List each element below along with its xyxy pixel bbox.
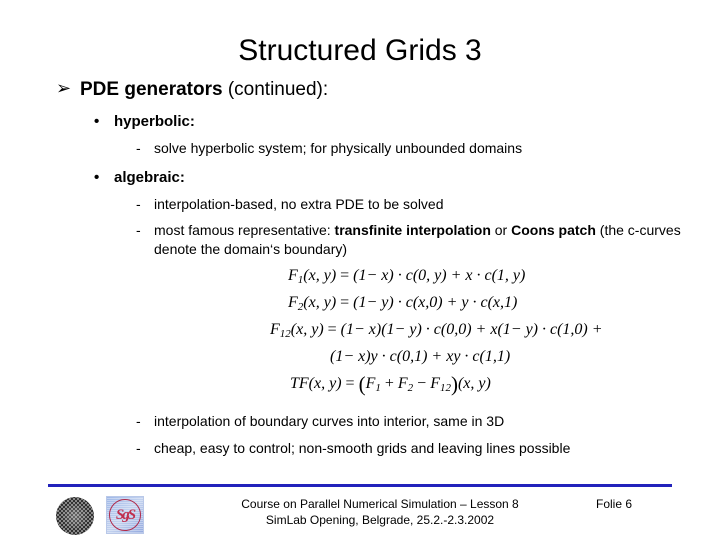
bullet-level3-interpolation-boundary-text: interpolation of boundary curves into in…	[154, 413, 504, 429]
bullet-level3-cheap-easy-text: cheap, easy to control; non-smooth grids…	[154, 440, 570, 456]
sgs-ring-icon: SgS	[109, 499, 141, 531]
formula-f12-subscript: 12	[280, 328, 291, 340]
formula-tf-inner-f2: F	[398, 375, 408, 392]
dash-bullet-icon: -	[136, 139, 141, 158]
formula-f12-eq: =	[324, 321, 341, 338]
bullet-level2-algebraic-label: algebraic:	[114, 169, 185, 186]
bullet-level3-hyperbolic-item: - solve hyperbolic system; for physicall…	[136, 139, 720, 158]
formula-f2-eq: =	[336, 294, 353, 311]
bullet-level3-famous-representative: - most famous representative: transfinit…	[136, 221, 720, 259]
famous-lead-text: most famous representative:	[154, 222, 335, 238]
footer-line-1: Course on Parallel Numerical Simulation …	[180, 496, 580, 512]
formula-tf-close-paren: )	[451, 372, 458, 396]
dash-bullet-icon: -	[136, 439, 141, 458]
formula-tf-inner-f12: F	[430, 375, 440, 392]
formula-tf-lhs-name: TF	[290, 375, 309, 392]
arrow-bullet-icon: ➢	[56, 77, 71, 101]
bullet-level2-hyperbolic-label: hyperbolic:	[114, 113, 195, 130]
formula-tf-args: (x, y)	[309, 375, 342, 392]
formula-f12-lhs-name: F	[270, 321, 280, 338]
bullet-level3-cheap-easy: - cheap, easy to control; non-smooth gri…	[136, 439, 659, 458]
slide-title: Structured Grids 3	[0, 34, 720, 68]
bullet-level3-hyperbolic-text: solve hyperbolic system; for physically …	[154, 140, 522, 156]
sgs-emblem-logo-icon: SgS	[106, 496, 144, 534]
round-bullet-icon: •	[94, 167, 99, 188]
formula-tf-open-paren: (	[359, 372, 366, 396]
formula-tf-minus: −	[413, 375, 430, 392]
formula-f1-args: (x, y)	[303, 267, 336, 284]
formula-f1-eq: =	[336, 267, 353, 284]
footer-line-2: SimLab Opening, Belgrade, 25.2.-2.3.2002	[180, 512, 580, 528]
formula-f2-rhs: (1− y) · c(x,0) + y · c(x,1)	[353, 294, 517, 311]
bullet-level3-interpolation-based: - interpolation-based, no extra PDE to b…	[136, 195, 720, 214]
formula-f2-args: (x, y)	[303, 294, 336, 311]
formula-f12: F12(x, y) = (1− x)(1− y) · c(0,0) + x(1−…	[0, 316, 720, 343]
formula-tf-plus: +	[381, 375, 398, 392]
famous-bold-coons-patch: Coons patch	[511, 222, 596, 238]
formula-block: F1(x, y) = (1− x) · c(0, y) + x · c(1, y…	[0, 262, 720, 397]
presentation-slide: Structured Grids 3 ➢ PDE generators (con…	[0, 0, 720, 540]
formula-f1: F1(x, y) = (1− x) · c(0, y) + x · c(1, y…	[0, 262, 720, 289]
bullet-level2-hyperbolic: • hyperbolic:	[92, 111, 720, 132]
bullet-level1-bold-text: PDE generators	[80, 79, 223, 100]
formula-tf: TF(x, y) = (F1 + F2 − F12)(x, y)	[0, 370, 720, 397]
formula-f1-lhs-name: F	[288, 267, 298, 284]
formula-tf-inner-f12-sub: 12	[440, 382, 451, 394]
bullet-level3-interpolation-text: interpolation-based, no extra PDE to be …	[154, 196, 444, 212]
formula-tf-inner-f1: F	[366, 375, 376, 392]
footer-slide-number: Folie 6	[596, 496, 676, 512]
formula-f12-continuation-rhs: (1− x)y · c(0,1) + xy · c(1,1)	[330, 348, 510, 365]
famous-bold-transfinite: transfinite interpolation	[335, 222, 491, 238]
famous-mid-text: or	[491, 222, 511, 238]
footer-logos: SgS	[56, 494, 156, 538]
footer-course-info: Course on Parallel Numerical Simulation …	[180, 496, 580, 528]
bullet-level1-pde-generators: ➢ PDE generators (continued):	[56, 78, 720, 102]
formula-f12-continuation: (1− x)y · c(0,1) + xy · c(1,1)	[0, 343, 720, 370]
formula-f12-rhs: (1− x)(1− y) · c(0,0) + x(1− y) · c(1,0)…	[341, 321, 603, 338]
bullet-level1-normal-text: (continued):	[223, 79, 329, 100]
formula-f2: F2(x, y) = (1− y) · c(x,0) + y · c(x,1)	[0, 289, 720, 316]
sgs-mark-text: SgS	[116, 508, 134, 523]
formula-f1-rhs: (1− x) · c(0, y) + x · c(1, y)	[353, 267, 525, 284]
footer-divider	[48, 484, 672, 487]
formula-tf-eq: =	[342, 375, 359, 392]
dash-bullet-icon: -	[136, 221, 141, 240]
formula-f2-lhs-name: F	[288, 294, 298, 311]
formula-tf-trailing-args: (x, y)	[458, 375, 491, 392]
dash-bullet-icon: -	[136, 195, 141, 214]
round-bullet-icon: •	[94, 111, 99, 132]
bullet-level3-interpolation-boundary: - interpolation of boundary curves into …	[136, 412, 720, 431]
slide-body: ➢ PDE generators (continued): • hyperbol…	[0, 78, 720, 259]
slide-body-post-formula: - interpolation of boundary curves into …	[0, 404, 720, 458]
halftone-sphere-logo-icon	[56, 497, 94, 535]
bullet-level2-algebraic: • algebraic:	[92, 167, 720, 188]
slide-footer: SgS Course on Parallel Numerical Simulat…	[0, 492, 720, 540]
dash-bullet-icon: -	[136, 412, 141, 431]
formula-f12-args: (x, y)	[291, 321, 324, 338]
